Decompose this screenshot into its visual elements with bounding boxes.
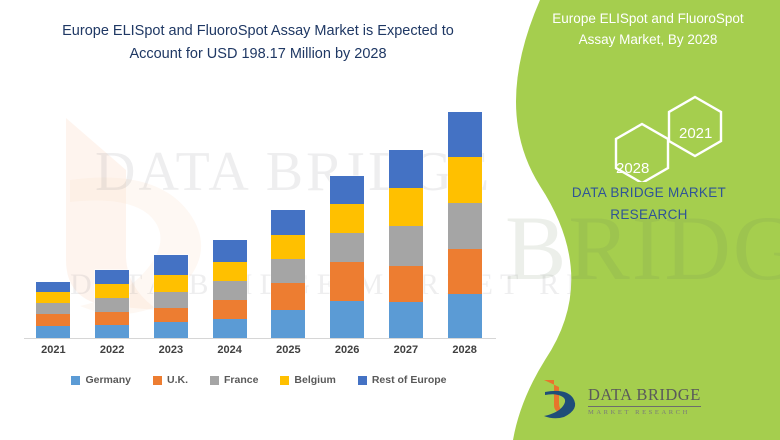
bar-2027[interactable] [389,150,423,339]
x-label-2023: 2023 [143,344,199,356]
bar-2022[interactable] [95,270,129,339]
segment-france-2026 [330,233,364,263]
x-label-2022: 2022 [84,344,140,356]
plot-area [24,60,494,339]
bar-2024[interactable] [213,240,247,339]
x-label-2024: 2024 [202,344,258,356]
segment-belgium-2024 [213,262,247,281]
segment-belgium-2026 [330,204,364,233]
x-label-2026: 2026 [319,344,375,356]
chart-legend: GermanyU.K.FranceBelgiumRest of Europe [24,374,494,386]
legend-item-france[interactable]: France [210,374,258,386]
logo-company-subtitle: MARKET RESEARCH [588,409,701,416]
x-axis-labels: 20212022202320242025202620272028 [24,344,494,364]
segment-belgium-2025 [271,235,305,258]
segment-u-k--2022 [95,312,129,326]
legend-swatch-icon [280,376,289,385]
segment-france-2027 [389,226,423,266]
panel-title-line-1: Europe ELISpot and FluoroSpot [522,8,774,29]
bar-2028[interactable] [448,112,482,339]
x-label-2028: 2028 [437,344,493,356]
segment-germany-2025 [271,310,305,339]
segment-u-k--2023 [154,308,188,322]
segment-france-2021 [36,303,70,314]
segment-germany-2023 [154,322,188,339]
infographic-canvas: DATA BRIDGE DATA BRIDGE MARKET RESEARCH … [0,0,780,440]
segment-rest-of-europe-2024 [213,240,247,262]
company-logo: DATA BRIDGE MARKET RESEARCH [540,375,720,423]
hexagon-far-label: 2021 [679,125,712,142]
legend-swatch-icon [153,376,162,385]
hexagon-near-label: 2028 [616,160,649,177]
segment-belgium-2028 [448,157,482,203]
segment-belgium-2022 [95,284,129,298]
hexagon-pair: 2021 2028 [590,92,730,182]
segment-france-2025 [271,259,305,283]
segment-u-k--2025 [271,283,305,310]
bar-2023[interactable] [154,255,188,339]
segment-u-k--2021 [36,314,70,326]
segment-rest-of-europe-2021 [36,282,70,292]
logo-company-name: DATA BRIDGE [588,385,701,407]
panel-brand-line-1: DATA BRIDGE MARKET [524,182,774,204]
legend-swatch-icon [210,376,219,385]
data-bridge-logo-icon [540,378,580,420]
legend-item-u-k-[interactable]: U.K. [153,374,188,386]
bar-2025[interactable] [271,210,305,339]
segment-germany-2024 [213,319,247,339]
segment-france-2028 [448,203,482,248]
segment-u-k--2024 [213,300,247,319]
segment-germany-2022 [95,325,129,339]
segment-rest-of-europe-2028 [448,112,482,158]
segment-belgium-2021 [36,292,70,303]
segment-u-k--2028 [448,249,482,294]
legend-swatch-icon [358,376,367,385]
panel-title-line-2: Assay Market, By 2028 [522,29,774,50]
segment-belgium-2027 [389,188,423,226]
segment-germany-2026 [330,301,364,339]
segment-germany-2028 [448,294,482,339]
legend-item-germany[interactable]: Germany [71,374,131,386]
panel-brand-line-2: RESEARCH [524,204,774,226]
segment-belgium-2023 [154,275,188,292]
legend-swatch-icon [71,376,80,385]
legend-item-belgium[interactable]: Belgium [280,374,335,386]
panel-brand-text: DATA BRIDGE MARKET RESEARCH [524,182,774,226]
bar-2026[interactable] [330,176,364,339]
panel-title: Europe ELISpot and FluoroSpot Assay Mark… [522,8,774,50]
stacked-bar-chart: 20212022202320242025202620272028 Germany… [0,0,510,440]
x-label-2025: 2025 [260,344,316,356]
segment-u-k--2027 [389,266,423,303]
segment-rest-of-europe-2022 [95,270,129,284]
legend-label: Rest of Europe [372,374,447,386]
x-axis-line [24,338,496,339]
logo-text-block: DATA BRIDGE MARKET RESEARCH [588,383,701,416]
segment-germany-2027 [389,302,423,339]
segment-rest-of-europe-2025 [271,210,305,236]
segment-u-k--2026 [330,262,364,300]
legend-label: Belgium [294,374,335,386]
segment-rest-of-europe-2026 [330,176,364,204]
segment-rest-of-europe-2023 [154,255,188,275]
legend-label: U.K. [167,374,188,386]
x-label-2021: 2021 [25,344,81,356]
x-label-2027: 2027 [378,344,434,356]
segment-france-2024 [213,281,247,300]
segment-france-2023 [154,292,188,308]
legend-label: France [224,374,258,386]
legend-label: Germany [85,374,131,386]
legend-item-rest-of-europe[interactable]: Rest of Europe [358,374,447,386]
segment-rest-of-europe-2027 [389,150,423,188]
bar-2021[interactable] [36,282,70,339]
segment-france-2022 [95,298,129,312]
